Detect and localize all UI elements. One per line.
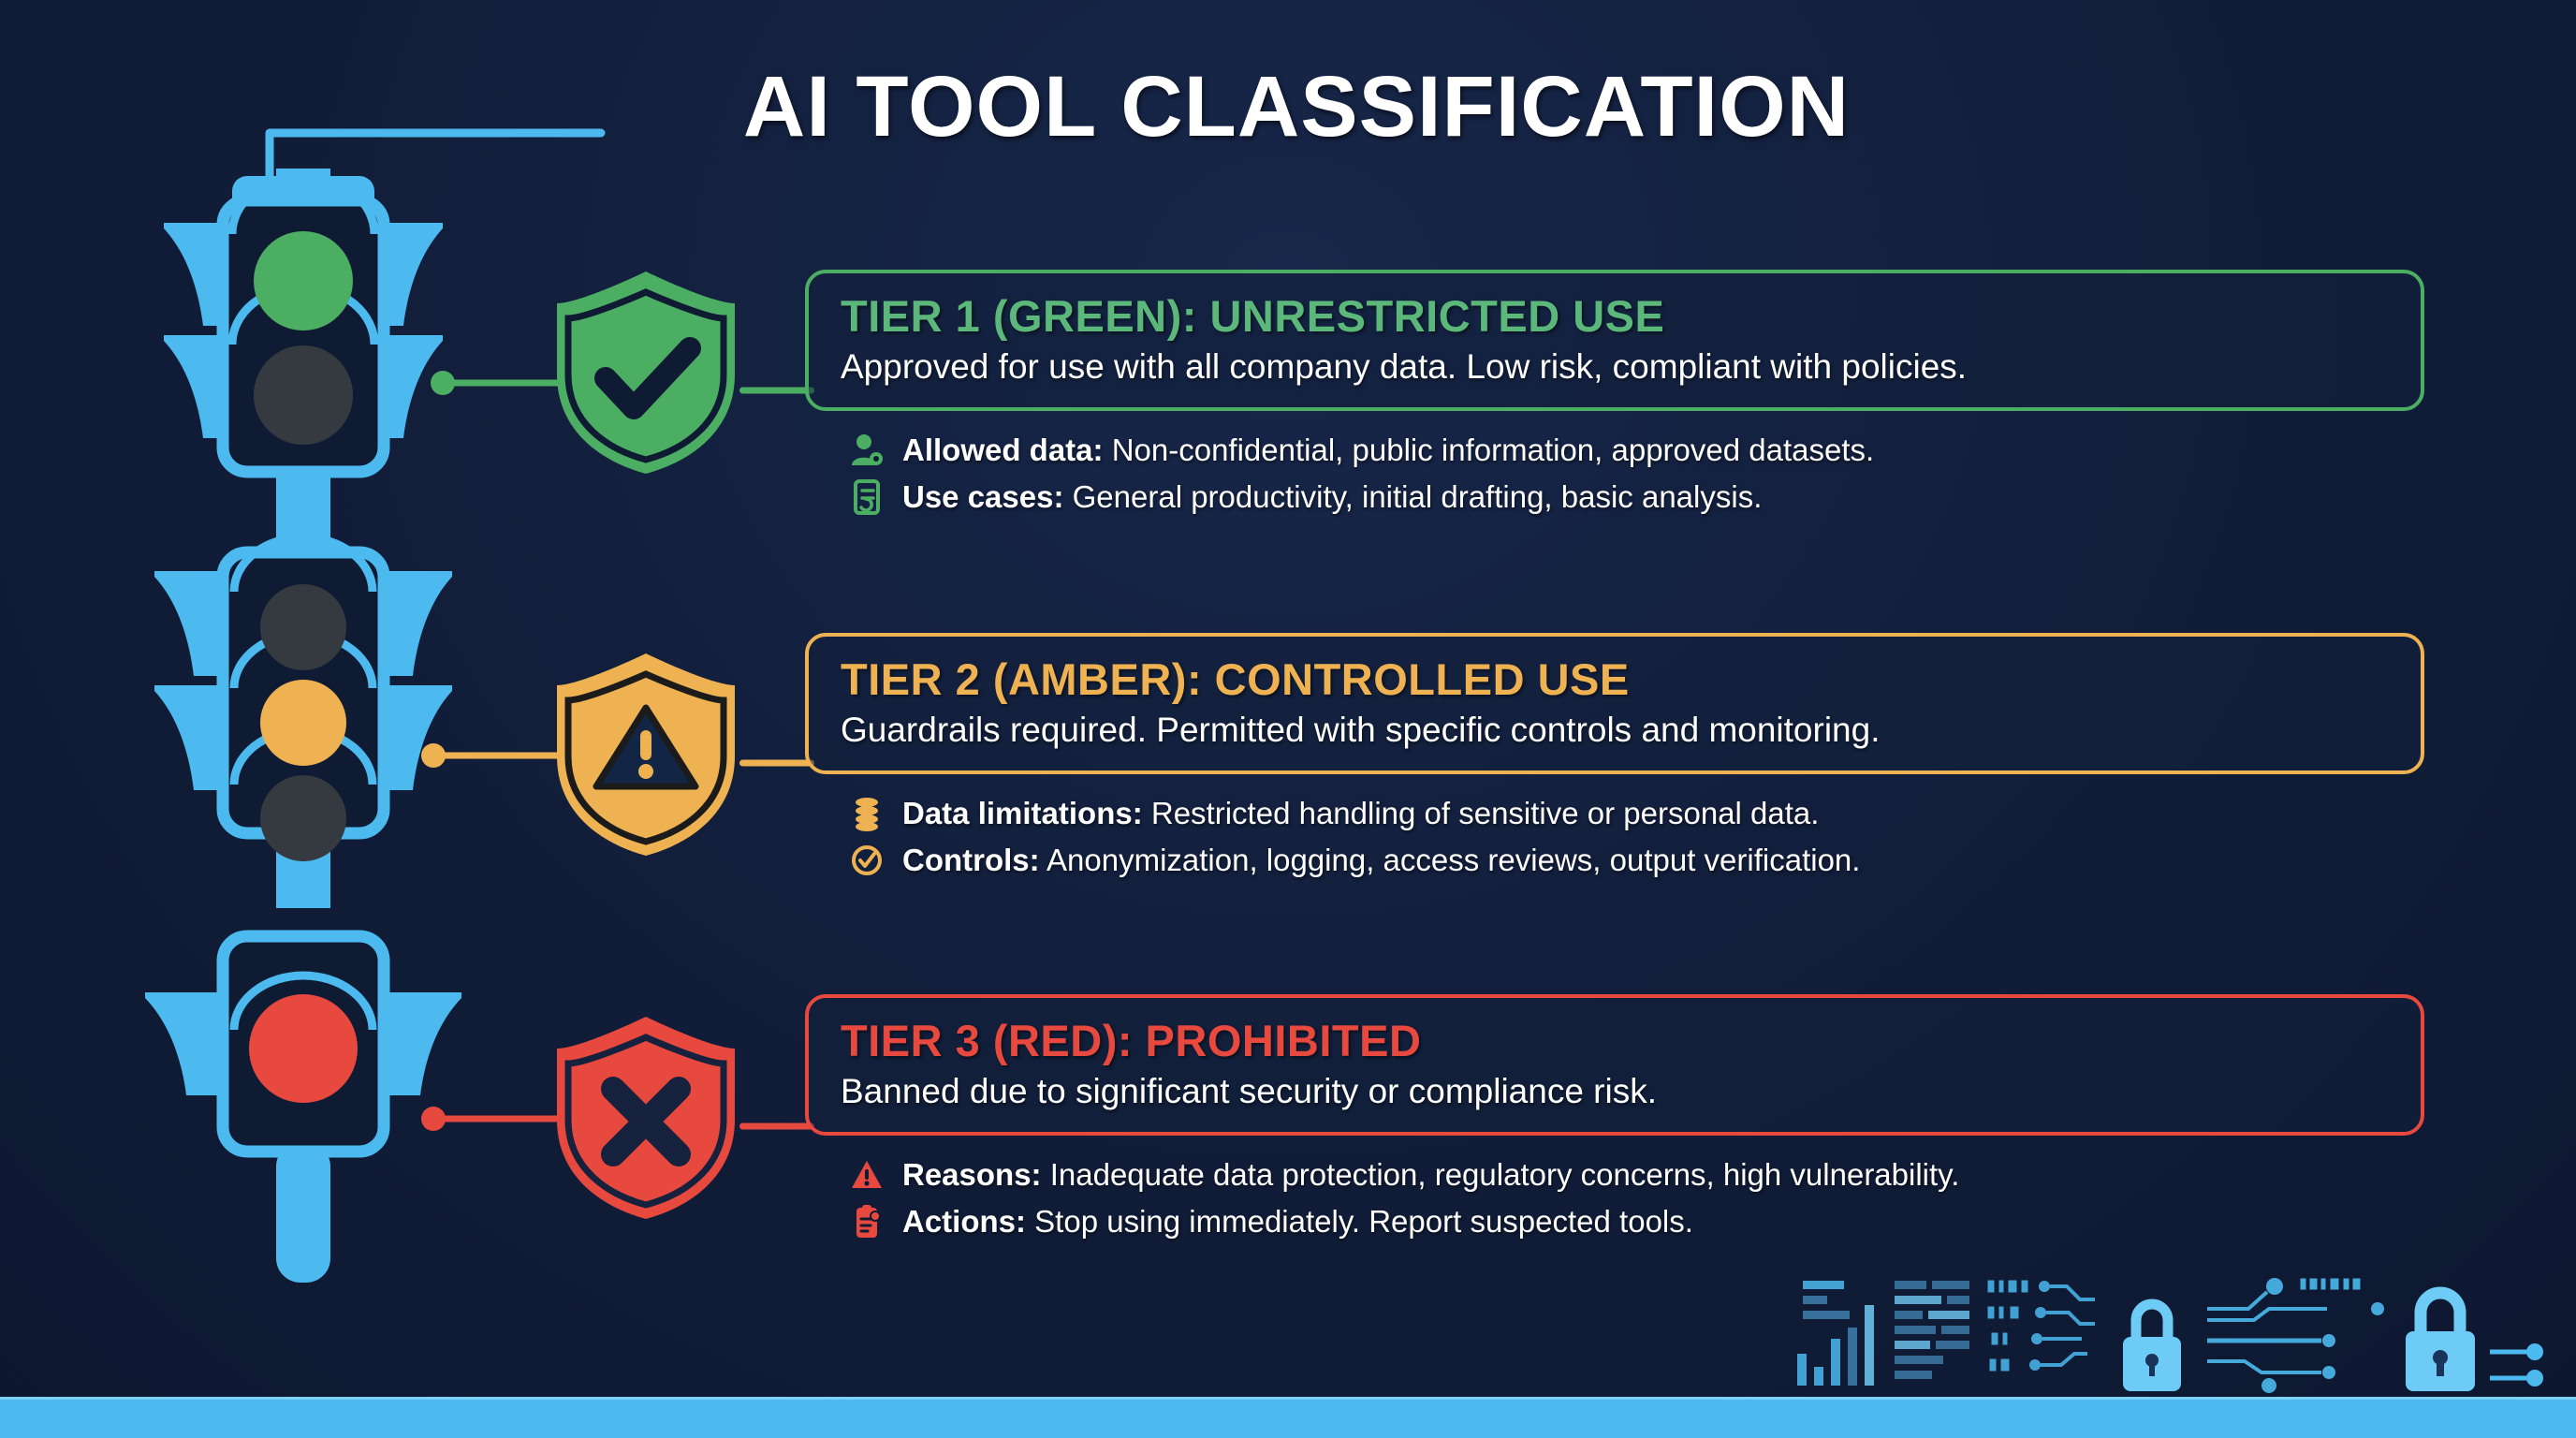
tier-3-block: TIER 3 (RED): PROHIBITED Banned due to s…	[805, 994, 2424, 1250]
tier-3-bullet-reasons-label: Reasons:	[902, 1157, 1042, 1192]
tier-3-bullet-reasons: Reasons: Inadequate data protection, reg…	[850, 1156, 2424, 1194]
tier-1-bullets: Allowed data: Non-confidential, public i…	[805, 432, 2424, 516]
connector-stub-tier-2	[739, 747, 814, 779]
tier-2-bullet-controls-value: Anonymization, logging, access reviews, …	[1040, 843, 1861, 877]
padlock-icon	[2123, 1304, 2181, 1391]
tier-2-bullet-data-limitations-text: Data limitations: Restricted handling of…	[902, 796, 1819, 831]
circuit-icon	[1988, 1281, 2095, 1371]
tier-3-description: Banned due to significant security or co…	[841, 1072, 2389, 1111]
tier-2-heading: TIER 2 (AMBER): CONTROLLED USE	[841, 653, 2389, 705]
tier-1-bullet-use-cases-label: Use cases:	[902, 479, 1063, 514]
tier-2-bullets: Data limitations: Restricted handling of…	[805, 795, 2424, 879]
tier-1-bullet-allowed-data-text: Allowed data: Non-confidential, public i…	[902, 433, 1874, 468]
tier-3-bullet-actions-value: Stop using immediately. Report suspected…	[1026, 1204, 1693, 1239]
tier-2-bullet-controls: Controls: Anonymization, logging, access…	[850, 842, 2424, 879]
tier-2-banner[interactable]: TIER 2 (AMBER): CONTROLLED USE Guardrail…	[805, 633, 2424, 774]
tier-3-banner[interactable]: TIER 3 (RED): PROHIBITED Banned due to s…	[805, 994, 2424, 1136]
tier-1-bullet-allowed-data-label: Allowed data:	[902, 433, 1104, 467]
tier-3-bullets: Reasons: Inadequate data protection, reg…	[805, 1156, 2424, 1240]
tier-3-bullet-reasons-text: Reasons: Inadequate data protection, reg…	[902, 1157, 1959, 1193]
warning-triangle-icon	[850, 1156, 884, 1194]
bottom-accent-bar	[0, 1397, 2576, 1438]
tier-1-banner[interactable]: TIER 1 (GREEN): UNRESTRICTED USE Approve…	[805, 270, 2424, 411]
tier-2-bullet-data-limitations: Data limitations: Restricted handling of…	[850, 795, 2424, 832]
document-refresh-icon	[850, 478, 884, 516]
tier-1-bullet-use-cases-value: General productivity, initial drafting, …	[1063, 479, 1762, 514]
circuit-lines-icon	[2207, 1278, 2384, 1393]
tier-1-block: TIER 1 (GREEN): UNRESTRICTED USE Approve…	[805, 270, 2424, 525]
tier-3-bullet-actions-text: Actions: Stop using immediately. Report …	[902, 1204, 1693, 1240]
tier-1-description: Approved for use with all company data. …	[841, 347, 2389, 387]
tier-2-block: TIER 2 (AMBER): CONTROLLED USE Guardrail…	[805, 633, 2424, 888]
tier-1-bullet-use-cases-text: Use cases: General productivity, initial…	[902, 479, 1762, 515]
user-gear-icon	[850, 432, 884, 469]
infographic-canvas: AI TOOL CLASSIFICATION	[0, 0, 2576, 1438]
bar-chart-icon	[1797, 1281, 1874, 1386]
connector-stub-tier-3	[739, 1110, 814, 1142]
check-circle-icon	[850, 842, 884, 879]
database-icon	[850, 795, 884, 832]
padlock-icon	[2406, 1293, 2543, 1391]
tier-3-bullet-actions-label: Actions:	[902, 1204, 1026, 1239]
tier-1-bullet-allowed-data: Allowed data: Non-confidential, public i…	[850, 432, 2424, 469]
tier-1-bullet-allowed-data-value: Non-confidential, public information, ap…	[1104, 433, 1875, 467]
tier-2-bullet-controls-label: Controls:	[902, 843, 1040, 877]
tier-2-bullet-data-limitations-value: Restricted handling of sensitive or pers…	[1143, 796, 1820, 830]
tier-3-bullet-actions: Actions: Stop using immediately. Report …	[850, 1203, 2424, 1240]
tier-2-bullet-data-limitations-label: Data limitations:	[902, 796, 1143, 830]
shield-cross-icon	[548, 1009, 744, 1225]
connector-stub-tier-1	[739, 374, 814, 406]
page-title: AI TOOL CLASSIFICATION	[618, 58, 1975, 156]
tier-2-bullet-controls-text: Controls: Anonymization, logging, access…	[902, 843, 1860, 878]
shield-check-icon	[548, 264, 744, 479]
data-bars-icon	[1895, 1281, 1969, 1379]
decorative-tech-graphics	[1790, 1253, 2557, 1393]
tier-2-description: Guardrails required. Permitted with spec…	[841, 711, 2389, 750]
tier-1-heading: TIER 1 (GREEN): UNRESTRICTED USE	[841, 290, 2389, 342]
shield-warning-icon	[548, 646, 744, 861]
clipboard-alert-icon	[850, 1203, 884, 1240]
tier-3-bullet-reasons-value: Inadequate data protection, regulatory c…	[1042, 1157, 1960, 1192]
tier-1-bullet-use-cases: Use cases: General productivity, initial…	[850, 478, 2424, 516]
tier-3-heading: TIER 3 (RED): PROHIBITED	[841, 1015, 2389, 1066]
